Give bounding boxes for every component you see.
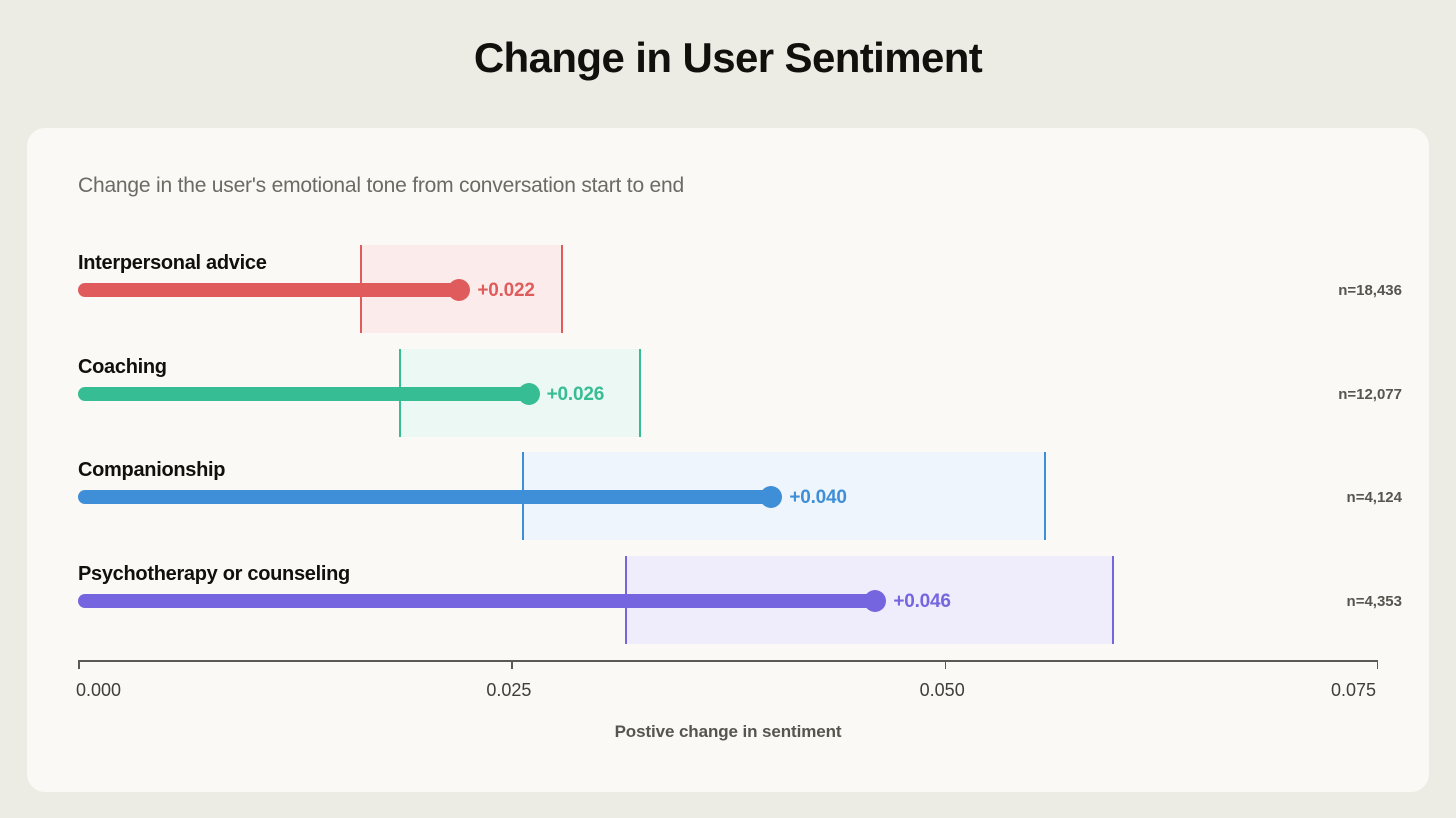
x-axis-title: Postive change in sentiment [27, 722, 1429, 742]
x-axis-tick [511, 660, 513, 669]
value-bar [78, 594, 875, 608]
value-bar [78, 283, 459, 297]
x-axis-tick-label: 0.050 [920, 680, 965, 701]
plot-area: Interpersonal advice+0.022n=18,436Coachi… [27, 128, 1429, 792]
x-axis-tick [78, 660, 80, 669]
x-axis-tick-label: 0.075 [1331, 680, 1376, 701]
ci-upper-tick [1112, 556, 1114, 644]
ci-upper-tick [639, 349, 641, 437]
ci-upper-tick [1044, 452, 1046, 540]
category-label: Interpersonal advice [78, 252, 267, 275]
category-label: Companionship [78, 459, 225, 482]
sample-size-label: n=4,124 [1347, 489, 1402, 506]
sample-size-label: n=12,077 [1338, 386, 1402, 403]
sample-size-label: n=18,436 [1338, 282, 1402, 299]
value-label: +0.022 [477, 280, 534, 302]
value-bar [78, 490, 771, 504]
value-label: +0.040 [789, 487, 846, 509]
category-label: Psychotherapy or counseling [78, 563, 350, 586]
value-label: +0.046 [893, 591, 950, 613]
value-label: +0.026 [547, 384, 604, 406]
category-label: Coaching [78, 356, 167, 379]
chart-card: Change in the user's emotional tone from… [27, 128, 1429, 792]
sample-size-label: n=4,353 [1347, 593, 1402, 610]
x-axis-tick [1377, 660, 1379, 669]
x-axis-line [78, 660, 1378, 662]
chart-page: Change in User Sentiment Change in the u… [0, 0, 1456, 818]
x-axis-tick-label: 0.025 [486, 680, 531, 701]
value-marker-dot [518, 383, 540, 405]
x-axis-tick-label: 0.000 [76, 680, 121, 701]
ci-upper-tick [561, 245, 563, 333]
value-bar [78, 387, 529, 401]
x-axis-tick [945, 660, 947, 669]
page-title: Change in User Sentiment [0, 34, 1456, 82]
